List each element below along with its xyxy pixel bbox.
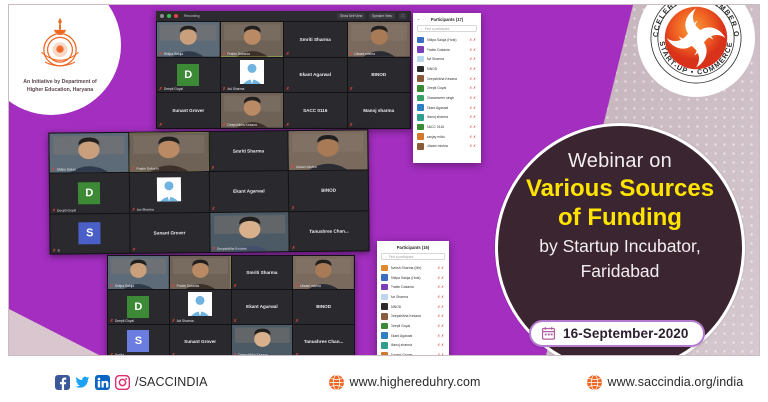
participant-name-text: Avi Sharma	[177, 319, 194, 323]
calendar-icon	[541, 326, 556, 341]
title-line-5: Faridabad	[581, 261, 660, 281]
participant-tile[interactable]: Smriti Sharma✗	[209, 131, 288, 171]
participant-name-center: Ekant Agarwal	[246, 304, 278, 309]
mic-muted-icon: ✗	[212, 247, 215, 251]
participant-list-item[interactable]: Deepshikha Kesana✗✗	[377, 311, 449, 321]
participant-list-name: Deepti Goyal	[391, 324, 435, 328]
mic-muted-icon: ✗	[291, 206, 294, 210]
mic-status: ✗	[286, 52, 289, 56]
participant-list-name: Deepti Goyal	[427, 86, 467, 90]
participant-list-item[interactable]: Ekant Agarwal✗✗	[413, 103, 481, 113]
participant-tile[interactable]: ✗Shilpa Saluja	[49, 133, 128, 173]
webinar-poster: Recording Show Self View Speaker View ⛶ …	[0, 0, 768, 402]
participant-name-label: ✗Shilpa Saluja	[52, 168, 76, 172]
participant-avatar	[417, 46, 424, 53]
participant-name-label: ✗S	[53, 249, 60, 253]
participant-tile[interactable]: ✗Shilpa Saluja	[157, 22, 220, 57]
participant-name-text: Ulwani mishra	[296, 165, 317, 169]
left-logo-caption: An Initiative by Department ofHigher Edu…	[23, 79, 97, 94]
chevron-down-icon[interactable]: ⌄	[417, 17, 420, 21]
mic-muted-icon: ✗	[159, 87, 162, 91]
participant-tile[interactable]: Smriti Sharma✗	[284, 22, 347, 57]
participant-list-name: BINOD	[427, 67, 467, 71]
participant-tile[interactable]: Sunant Grover✗	[130, 213, 209, 253]
mic-muted-icon: ✗	[286, 123, 289, 127]
participant-list-item[interactable]: Prabin Dokania✗✗	[413, 45, 481, 55]
participant-name-center: Manoj sharma	[363, 108, 394, 113]
mic-muted-icon: ✗	[350, 52, 353, 56]
participant-mic-video-icons[interactable]: ✗✗	[469, 106, 477, 110]
participant-list-name: Sunant Grover	[391, 353, 435, 356]
participant-avatar	[417, 85, 424, 92]
participant-tile[interactable]: S✗S	[50, 213, 129, 253]
participant-tile[interactable]: SACC 0116✗	[284, 93, 347, 128]
participant-avatar	[417, 133, 424, 140]
participant-name-text: Deepti Goyal	[115, 319, 134, 323]
participant-name-label: ✗Deepshikha Kesana	[234, 353, 268, 356]
participant-name-center: Ekant Agarwal	[300, 72, 332, 77]
participant-tile[interactable]: Tanushree Chan...✗	[293, 325, 354, 356]
participant-tile[interactable]: Sunant Grover✗	[170, 325, 231, 356]
website-url-2: www.saccindia.org/india	[608, 375, 744, 389]
participant-list-item[interactable]: sanjay mittu✗✗	[413, 132, 481, 142]
mic-muted-icon: ✗	[291, 165, 294, 169]
mic-status: ✗	[286, 123, 289, 127]
participant-name-text: Deepti Goyal	[164, 87, 183, 91]
participant-list-item[interactable]: Sunant Grover✗✗	[377, 350, 449, 356]
participant-default-avatar	[188, 292, 212, 321]
mic-muted-icon: ✗	[212, 207, 215, 211]
participant-tile[interactable]: ✗Prabin Dokania	[221, 22, 284, 57]
participant-avatar	[417, 95, 424, 102]
mic-muted-icon: ✗	[159, 52, 162, 56]
participant-list-name: Deepshikha Kesana	[391, 314, 435, 318]
mic-status: ✗	[286, 87, 289, 91]
mic-status: ✗	[295, 319, 298, 323]
recording-label: Recording	[184, 14, 199, 18]
website-url-1: www.highereduhry.com	[350, 375, 481, 389]
mic-muted-icon: ✗	[350, 87, 353, 91]
mic-muted-icon: ✗	[52, 208, 55, 212]
participant-name-text: Deepshikha Kesana	[217, 247, 247, 251]
participants-list-bottom: Avnish Sharma (Me)✗✗Shilpa Saluja (Host)…	[377, 263, 449, 356]
participant-tile[interactable]: ✗Avi Sharma	[130, 172, 209, 212]
participant-name-text: Shilpa Saluja	[164, 52, 183, 56]
mic-muted-icon: ✗	[172, 284, 175, 288]
participant-list-item[interactable]: Manoj sharma✗✗	[377, 341, 449, 351]
mic-muted-icon: ✗	[110, 353, 113, 356]
participant-name-text: Deepshikha Kesana	[238, 353, 268, 356]
poster-stage: Recording Show Self View Speaker View ⛶ …	[8, 4, 760, 356]
globe-icon	[586, 374, 603, 391]
participant-name-center: Sunant Grover	[154, 230, 186, 235]
mic-muted-icon: ✗	[132, 248, 135, 252]
participant-tile[interactable]: ✗Ulwani mishra	[348, 22, 411, 57]
participant-mic-video-icons[interactable]: ✗✗	[469, 38, 477, 42]
participant-list-item[interactable]: BINOD✗✗	[413, 64, 481, 74]
participant-list-name: Prabin Dokania	[391, 285, 435, 289]
instagram-icon[interactable]	[115, 375, 130, 390]
facebook-icon[interactable]	[55, 375, 70, 390]
participant-tile[interactable]: ✗Prabin Dokania	[129, 132, 208, 172]
participant-tile[interactable]: Tanushree Chan...✗	[289, 211, 368, 251]
participant-mic-video-icons[interactable]: ✗✗	[469, 67, 477, 71]
mic-muted-icon: ✗	[292, 246, 295, 250]
participant-list-item[interactable]: Ekant Agarwal✗✗	[377, 331, 449, 341]
mic-muted-icon: ✗	[223, 123, 226, 127]
speaker-view-button[interactable]: Speaker View	[369, 13, 395, 19]
participant-list-name: Ulwani mishra	[427, 144, 467, 148]
title-line-3: of Funding	[558, 205, 682, 231]
participant-mic-video-icons[interactable]: ✗✗	[469, 144, 477, 148]
mic-muted-icon: ✗	[350, 123, 353, 127]
participant-list-name: Shilpa Saluja (Host)	[427, 38, 467, 42]
participant-avatar	[417, 114, 424, 121]
participant-name-text: Prabin Dokania	[227, 52, 250, 56]
participant-avatar	[381, 294, 388, 301]
participant-name-text: Ulwani mishra	[300, 284, 321, 288]
participant-avatar	[381, 284, 388, 291]
participant-tile[interactable]: BINOD✗	[293, 290, 354, 323]
participant-avatar	[417, 104, 424, 111]
participant-name-text: Avi Sharma	[227, 87, 244, 91]
participant-list-name: Avi Sharma	[427, 57, 467, 61]
participant-tile[interactable]: Ekant Agarwal✗	[284, 58, 347, 93]
participant-initial-avatar: D	[127, 296, 149, 318]
participant-name-label: ✗Shilpa Saluja	[159, 52, 183, 56]
participant-tile[interactable]: Smriti Sharma✗	[232, 256, 293, 289]
participants-panel-top: ⌄ Participants (17) ⌕ Find a participant…	[413, 13, 481, 163]
participant-mic-video-icons[interactable]: ✗✗	[437, 276, 445, 280]
participant-mic-video-icons[interactable]: ✗✗	[469, 57, 477, 61]
participant-mic-video-icons[interactable]: ✗✗	[469, 96, 477, 100]
linkedin-icon[interactable]	[95, 375, 110, 390]
participant-name-text: Sarika	[115, 353, 124, 356]
participant-mic-video-icons[interactable]: ✗✗	[469, 86, 477, 90]
mic-muted-icon: ✗	[110, 319, 113, 323]
participant-mic-video-icons[interactable]: ✗✗	[437, 343, 445, 347]
participant-list-item[interactable]: Manoj sharma✗✗	[413, 113, 481, 123]
participant-name-label: ✗Ulwani mishra	[350, 52, 376, 56]
mic-status: ✗	[211, 166, 214, 170]
participant-tile[interactable]: D✗Deepti Goyal	[108, 290, 169, 323]
participant-name-label: ✗Deepti Goyal	[52, 208, 76, 212]
participant-tile[interactable]: BINOD✗	[348, 58, 411, 93]
participant-name-label: ✗Ulwani mishra	[291, 165, 317, 169]
fullscreen-icon[interactable]: ⛶	[399, 13, 407, 19]
participant-mic-video-icons[interactable]: ✗✗	[437, 266, 445, 270]
search-placeholder: Find a participant	[425, 27, 449, 31]
participant-list-name: Manoj sharma	[391, 343, 435, 347]
mic-muted-icon: ✗	[295, 319, 298, 323]
mic-status: ✗	[212, 207, 215, 211]
participant-default-avatar	[240, 60, 264, 89]
participant-name-text: Prabin Dokania	[136, 167, 159, 171]
participant-initial-avatar: S	[127, 330, 149, 352]
participant-tile[interactable]: Manoj sharma✗	[348, 93, 411, 128]
participant-name-text: Deepti Goyal	[57, 208, 76, 212]
participant-tile[interactable]: D✗Deepti Goyal	[157, 58, 220, 93]
participant-name-text: Deepshikha Kesana	[227, 123, 257, 127]
participant-name-center: BINOD	[316, 304, 331, 309]
participant-name-label: ✗Prabin Dokania	[131, 167, 158, 171]
participant-list-name: Dharamveer singh	[427, 96, 467, 100]
mic-muted-icon: ✗	[131, 167, 134, 171]
participant-avatar	[417, 37, 424, 44]
website-link-2[interactable]: www.saccindia.org/india	[586, 374, 744, 391]
participant-mic-video-icons[interactable]: ✗✗	[469, 125, 477, 129]
participant-name-text: Shilpa Saluja	[57, 168, 76, 172]
website-link-1[interactable]: www.highereduhry.com	[328, 374, 481, 391]
participant-tile[interactable]: ✗Avi Sharma	[170, 290, 231, 323]
mic-status: ✗	[234, 284, 237, 288]
participant-list-item[interactable]: BINOD✗✗	[377, 302, 449, 312]
search-icon: ⌕	[421, 27, 423, 31]
recording-dot	[174, 14, 178, 18]
mic-status: ✗	[172, 353, 175, 356]
participant-name-label: ✗Avi Sharma	[172, 319, 194, 323]
mic-status: ✗	[350, 123, 353, 127]
participant-tile[interactable]: Sunant Grover✗	[157, 93, 220, 128]
participant-name-label: ✗Ulwani mishra	[295, 284, 321, 288]
mic-muted-icon: ✗	[223, 87, 226, 91]
participant-list-item[interactable]: Shilpa Saluja (Host)✗✗	[413, 35, 481, 45]
participant-list-name: Avnish Sharma (Me)	[391, 266, 435, 270]
mic-muted-icon: ✗	[234, 284, 237, 288]
globe-icon	[328, 374, 345, 391]
participant-mic-video-icons[interactable]: ✗✗	[437, 295, 445, 299]
zoom-titlebar-top: Recording Show Self View Speaker View ⛶	[156, 11, 411, 21]
participant-name-text: Shilpa Saluja	[115, 284, 134, 288]
participant-avatar	[417, 124, 424, 131]
participant-list-item[interactable]: Shilpa Saluja (Host)✗✗	[377, 273, 449, 283]
window-dot-grey	[160, 14, 164, 18]
sacc-logo-icon: ACCELERATOR CHAMBER OF START-UP • COMMER…	[644, 4, 748, 90]
zoom-gallery-grid-middle: ✗Shilpa Saluja✗Prabin DokaniaSmriti Shar…	[48, 129, 369, 254]
zoom-gallery-grid-bottom: ✗Shilpa Saluja✗Prabin DokaniaSmriti Shar…	[107, 255, 355, 356]
mic-status: ✗	[295, 353, 298, 356]
participant-name-center: Tanushree Chan...	[309, 228, 349, 233]
participant-list-name: sanjay mittu	[427, 135, 467, 139]
participant-avatar	[381, 265, 388, 272]
participant-mic-video-icons[interactable]: ✗✗	[437, 334, 445, 338]
participant-tile[interactable]: ✗Deepshikha Kesana	[221, 93, 284, 128]
participant-avatar	[417, 56, 424, 63]
participant-name-center: Sunant Grover	[172, 108, 204, 113]
participant-name-label: ✗Prabin Dokania	[223, 52, 250, 56]
participant-tile[interactable]: D✗Deepti Goyal	[50, 173, 129, 213]
zoom-gallery-grid-top: ✗Shilpa Saluja✗Prabin DokaniaSmriti Shar…	[156, 21, 411, 129]
participant-avatar	[417, 143, 424, 150]
participant-mic-video-icons[interactable]: ✗✗	[469, 48, 477, 52]
participant-name-label: ✗Avi Sharma	[132, 207, 154, 211]
participants-panel-title-row-bottom: Participants (16)	[377, 241, 449, 253]
participant-list-item[interactable]: Deepshikha Kesana✗✗	[413, 74, 481, 84]
mic-muted-icon: ✗	[52, 168, 55, 172]
participant-name-text: Avi Sharma	[137, 207, 154, 211]
date-text: 16-September-2020	[563, 326, 689, 341]
title-line-4: by Startup Incubator,	[539, 236, 701, 256]
participant-tile[interactable]: ✗Deepshikha Kesana	[210, 212, 289, 252]
participant-initial-avatar: D	[177, 64, 199, 86]
participant-tile[interactable]: ✗Ulwani mishra	[293, 256, 354, 289]
participants-list-top: Shilpa Saluja (Host)✗✗Prabin Dokania✗✗Av…	[413, 35, 481, 151]
participant-name-center: SACC 0116	[303, 108, 327, 113]
participant-mic-video-icons[interactable]: ✗✗	[437, 324, 445, 328]
participant-list-item[interactable]: Prabin Dokania✗✗	[377, 282, 449, 292]
mic-muted-icon: ✗	[172, 319, 175, 323]
participant-list-item[interactable]: Avi Sharma✗✗	[377, 292, 449, 302]
participant-tile[interactable]: ✗Shilpa Saluja	[108, 256, 169, 289]
participant-name-text: S	[57, 249, 59, 253]
search-placeholder-bottom: Find a participant	[389, 255, 413, 259]
mic-muted-icon: ✗	[53, 249, 56, 253]
participant-name-center: BINOD	[321, 188, 336, 193]
participant-name-center: Sunant Grover	[184, 339, 216, 344]
participant-tile[interactable]: ✗Deepshikha Kesana	[232, 325, 293, 356]
participant-tile[interactable]: Ekant Agarwal✗	[209, 171, 288, 211]
search-icon: ⌕	[385, 255, 387, 259]
participant-name-center: Smriti Sharma	[246, 270, 277, 275]
participant-avatar	[381, 342, 388, 349]
participant-avatar	[381, 313, 388, 320]
participant-avatar	[381, 332, 388, 339]
participants-panel-bottom: Participants (16) ⌕ Find a participant A…	[377, 241, 449, 356]
participant-name-center: BINOD	[371, 72, 386, 77]
participant-avatar	[381, 323, 388, 330]
participant-mic-video-icons[interactable]: ✗✗	[469, 135, 477, 139]
participant-name-label: ✗Deepshikha Kesana	[223, 123, 257, 127]
participant-default-avatar	[157, 178, 181, 207]
participant-initial-avatar: S	[79, 222, 101, 244]
participant-mic-video-icons[interactable]: ✗✗	[437, 305, 445, 309]
participant-list-name: Ekant Agarwal	[391, 334, 435, 338]
participant-list-name: Avi Sharma	[391, 295, 435, 299]
participant-name-label: ✗Deepti Goyal	[110, 319, 134, 323]
participant-mic-video-icons[interactable]: ✗✗	[469, 77, 477, 81]
participant-list-name: Deepshikha Kesana	[427, 77, 467, 81]
show-self-view-button[interactable]: Show Self View	[337, 13, 365, 19]
participant-name-center: Ekant Agarwal	[233, 189, 265, 194]
participant-mic-video-icons[interactable]: ✗✗	[437, 353, 445, 356]
participants-panel-title-row: ⌄ Participants (17)	[413, 13, 481, 25]
participant-name-label: ✗Shilpa Saluja	[110, 284, 134, 288]
mic-status: ✗	[159, 123, 162, 127]
participants-search-input-bottom[interactable]: ⌕ Find a participant	[381, 253, 445, 260]
zoom-window-top: Recording Show Self View Speaker View ⛶ …	[156, 11, 411, 129]
participant-name-label: ✗Deepshikha Kesana	[212, 247, 246, 251]
participant-name-center: Smriti Sharma	[233, 149, 264, 154]
participant-name-text: Prabin Dokania	[177, 284, 200, 288]
zoom-window-middle: ✗Shilpa Saluja✗Prabin DokaniaSmriti Shar…	[48, 129, 369, 254]
participant-avatar	[417, 66, 424, 73]
participant-mic-video-icons[interactable]: ✗✗	[437, 285, 445, 289]
participant-name-label: ✗Deepti Goyal	[159, 87, 183, 91]
participants-search-input-top[interactable]: ⌕ Find a participant	[417, 25, 477, 32]
twitter-icon[interactable]	[75, 375, 90, 390]
participant-list-item[interactable]: Deepti Goyal✗✗	[413, 83, 481, 93]
participants-title: Participants (17)	[431, 17, 464, 22]
participant-mic-video-icons[interactable]: ✗✗	[437, 314, 445, 318]
mic-muted-icon: ✗	[172, 353, 175, 356]
participant-mic-video-icons[interactable]: ✗✗	[469, 115, 477, 119]
social-handle: /SACCINDIA	[135, 375, 208, 389]
mic-status: ✗	[350, 87, 353, 91]
title-line-2: Various Sources	[526, 176, 714, 202]
participant-name-center: Smriti Sharma	[300, 37, 331, 42]
mic-muted-icon: ✗	[286, 52, 289, 56]
participant-list-item[interactable]: Avnish Sharma (Me)✗✗	[377, 263, 449, 273]
title-line-1: Webinar on	[568, 150, 672, 173]
sacc-chamber-logo: ACCELERATOR CHAMBER OF START-UP • COMMER…	[637, 4, 755, 97]
mic-muted-icon: ✗	[234, 319, 237, 323]
participants-title-bottom: Participants (16)	[397, 245, 430, 250]
mic-muted-icon: ✗	[295, 284, 298, 288]
participant-tile[interactable]: S✗Sarika	[108, 325, 169, 356]
mic-muted-icon: ✗	[234, 353, 237, 356]
participant-tile[interactable]: ✗Ulwani mishra	[289, 130, 368, 170]
mic-status: ✗	[132, 248, 135, 252]
mic-muted-icon: ✗	[223, 52, 226, 56]
participant-list-name: SACC 0116	[427, 125, 467, 129]
participant-avatar	[381, 274, 388, 281]
zoom-window-bottom: ✗Shilpa Saluja✗Prabin DokaniaSmriti Shar…	[107, 255, 355, 356]
participant-list-name: Prabin Dokania	[427, 48, 467, 52]
participant-name-center: Tanushree Chan...	[304, 339, 343, 344]
participant-name-label: ✗Sarika	[110, 353, 124, 356]
footer-bar: /SACCINDIA www.highereduhry.com	[0, 362, 768, 402]
mic-muted-icon: ✗	[110, 284, 113, 288]
participant-avatar	[381, 303, 388, 310]
participant-tile[interactable]: ✗Avi Sharma	[221, 58, 284, 93]
participant-list-item[interactable]: Dharamveer singh✗✗	[413, 93, 481, 103]
mic-muted-icon: ✗	[159, 123, 162, 127]
participant-tile[interactable]: ✗Prabin Dokania	[170, 256, 231, 289]
participant-name-label: ✗Avi Sharma	[223, 87, 245, 91]
window-dot-green	[167, 14, 171, 18]
participant-list-name: BINOD	[391, 305, 435, 309]
participant-list-item[interactable]: Ulwani mishra✗✗	[413, 142, 481, 152]
social-group: /SACCINDIA	[55, 375, 208, 390]
mic-status: ✗	[291, 206, 294, 210]
participant-initial-avatar: D	[78, 182, 100, 204]
mic-muted-icon: ✗	[295, 353, 298, 356]
participant-list-name: Ekant Agarwal	[427, 106, 467, 110]
mic-status: ✗	[292, 246, 295, 250]
haryana-emblem-icon	[29, 15, 91, 77]
participant-avatar	[381, 352, 388, 356]
participant-name-label: ✗Prabin Dokania	[172, 284, 199, 288]
participant-list-item[interactable]: SACC 0116✗✗	[413, 122, 481, 132]
participant-name-text: Ulwani mishra	[354, 52, 375, 56]
participant-list-item[interactable]: Deepti Goyal✗✗	[377, 321, 449, 331]
participant-video	[232, 325, 293, 356]
participant-list-name: Shilpa Saluja (Host)	[391, 276, 435, 280]
mic-muted-icon: ✗	[211, 166, 214, 170]
date-badge: 16-September-2020	[529, 320, 705, 347]
mic-muted-icon: ✗	[286, 87, 289, 91]
participant-list-item[interactable]: Avi Sharma✗✗	[413, 54, 481, 64]
participant-avatar	[417, 75, 424, 82]
participant-tile[interactable]: Ekant Agarwal✗	[232, 290, 293, 323]
mic-muted-icon: ✗	[132, 207, 135, 211]
mic-status: ✗	[234, 319, 237, 323]
participant-list-name: Manoj sharma	[427, 115, 467, 119]
participant-tile[interactable]: BINOD✗	[289, 171, 368, 211]
